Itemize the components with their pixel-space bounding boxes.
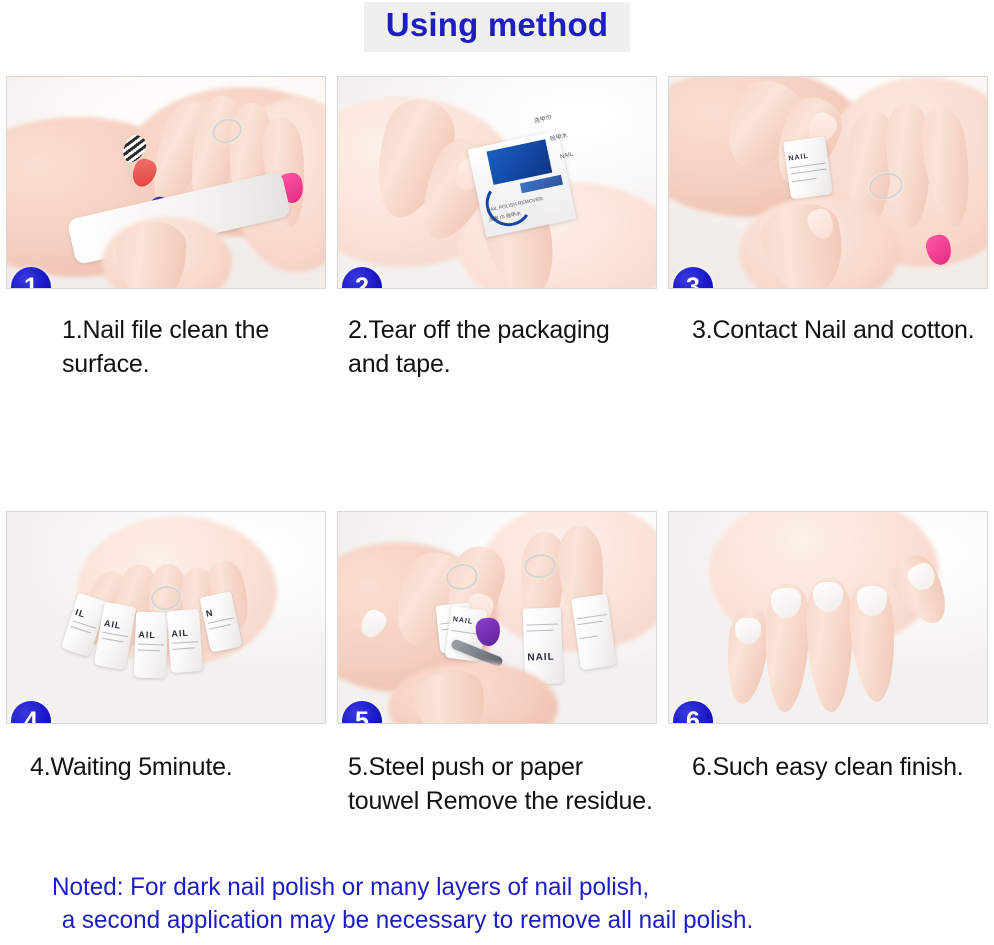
step-caption-6: 6.Such easy clean finish. xyxy=(692,750,972,784)
step-caption-2: 2.Tear off the packaging and tape. xyxy=(348,313,648,381)
step-caption-5: 5.Steel push or paper touwel Remove the … xyxy=(348,750,658,818)
page-title: Using method xyxy=(386,5,608,45)
footer-note-line-1: Noted: For dark nail polish or many laye… xyxy=(52,873,649,901)
title-bar: Using method xyxy=(0,0,994,62)
step-card-2: NAIL POLISH REMOVER 洗甲 巾 除甲水 洗甲巾 除甲水 NAI… xyxy=(337,76,657,289)
step-caption-4: 4.Waiting 5minute. xyxy=(30,750,330,784)
step-photo-5: NAIL NAIL 5 xyxy=(337,511,657,724)
scene-remove-residue: NAIL NAIL xyxy=(338,512,656,723)
step-photo-4: IL AIL AIL AIL N xyxy=(6,511,326,724)
scene-waiting-wrapped-nails: IL AIL AIL AIL N xyxy=(7,512,325,723)
step-photo-6: 6 xyxy=(668,511,988,724)
step-caption-1: 1.Nail file clean the surface. xyxy=(62,313,324,381)
scene-contact-nail-cotton: NAIL xyxy=(669,77,987,288)
step-card-5: NAIL NAIL 5 xyxy=(337,511,657,724)
scene-tear-packaging: NAIL POLISH REMOVER 洗甲 巾 除甲水 洗甲巾 除甲水 NAI… xyxy=(338,77,656,288)
step-caption-3: 3.Contact Nail and cotton. xyxy=(692,313,982,347)
steps-row-one: 1 NAIL POLISH REMOVER 洗甲 巾 除甲水 xyxy=(6,76,988,289)
footer-note-line-2: a second application may be necessary to… xyxy=(52,904,944,937)
scene-nail-filing xyxy=(7,77,325,288)
steps-row-two: IL AIL AIL AIL N xyxy=(6,511,988,724)
title-band: Using method xyxy=(364,2,630,52)
step-photo-3: NAIL 3 xyxy=(668,76,988,289)
step-photo-2: NAIL POLISH REMOVER 洗甲 巾 除甲水 洗甲巾 除甲水 NAI… xyxy=(337,76,657,289)
footer-note: Noted: For dark nail polish or many laye… xyxy=(52,871,944,937)
step-card-4: IL AIL AIL AIL N xyxy=(6,511,326,724)
scene-clean-finish xyxy=(669,512,987,723)
step-card-1: 1 xyxy=(6,76,326,289)
step-card-3: NAIL 3 xyxy=(668,76,988,289)
step-photo-1: 1 xyxy=(6,76,326,289)
step-card-6: 6 xyxy=(668,511,988,724)
